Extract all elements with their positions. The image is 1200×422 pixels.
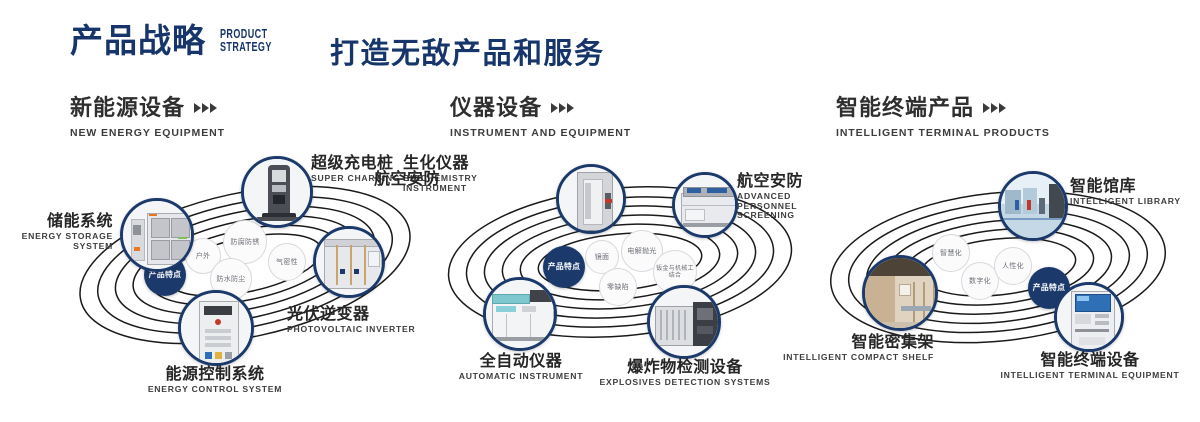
- section-title-cn: 新能源设备: [70, 96, 225, 121]
- node-super-charging-hub[interactable]: [241, 156, 313, 228]
- section-label: 仪器设备: [450, 96, 542, 121]
- product-strategy-infographic: 产品战略 PRODUCT STRATEGY 打造无敌产品和服务 新能源设备 NE…: [0, 0, 1200, 422]
- biochemistry-analyzer-icon: [559, 167, 623, 231]
- page-slogan: 打造无敌产品和服务: [330, 30, 605, 72]
- library-room-icon: [1001, 174, 1065, 238]
- cluster-intelligent-terminal: 智慧化 数字化 人性化 产品特点 智能馆库 INTELLIGENT LIBRAR…: [820, 155, 1190, 385]
- section-title-intelligent-terminal: 智能终端产品 INTELLIGENT TERMINAL PRODUCTS: [836, 96, 1050, 139]
- node-advanced-personnel-screening[interactable]: [672, 172, 738, 238]
- feature-bubble: 智慧化: [932, 234, 970, 272]
- page-title-en-line2: STRATEGY: [220, 41, 306, 54]
- page-title-cn: 产品战略: [70, 24, 206, 57]
- page-title-en: PRODUCT STRATEGY: [220, 28, 306, 58]
- automatic-instrument-icon: [486, 280, 554, 348]
- chevron-right-icon: [194, 103, 217, 115]
- section-label: 新能源设备: [70, 96, 185, 121]
- section-title-en: INTELLIGENT TERMINAL PRODUCTS: [836, 127, 1050, 139]
- feature-bubble: 气密性: [268, 243, 306, 281]
- chevron-right-icon: [551, 103, 574, 115]
- charging-pile-icon: [244, 159, 310, 225]
- section-title-cn: 智能终端产品: [836, 96, 1050, 121]
- section-label: 智能终端产品: [836, 96, 974, 121]
- page-title: 产品战略 PRODUCT STRATEGY: [70, 24, 340, 57]
- section-title-instrument: 仪器设备 INSTRUMENT AND EQUIPMENT: [450, 96, 631, 139]
- self-service-kiosk-icon: [1057, 285, 1121, 349]
- node-label-automatic-instrument: 全自动仪器 AUTOMATIC INSTRUMENT: [423, 352, 619, 382]
- node-intelligent-compact-shelf[interactable]: [862, 255, 938, 331]
- section-title-cn: 仪器设备: [450, 96, 631, 121]
- node-intelligent-terminal-equipment[interactable]: [1054, 282, 1124, 352]
- node-energy-control-system[interactable]: [178, 290, 254, 366]
- node-photovoltaic-inverter[interactable]: [313, 226, 385, 298]
- inverter-cabinet-icon: [316, 229, 382, 295]
- section-title-en: INSTRUMENT AND EQUIPMENT: [450, 127, 631, 139]
- node-label-energy-storage-system: 储能系统 ENERGY STORAGE SYSTEM: [0, 212, 113, 251]
- feature-bubble: 人性化: [994, 247, 1032, 285]
- node-automatic-instrument[interactable]: [483, 277, 557, 351]
- energy-storage-cabinet-icon: [123, 201, 191, 269]
- node-label-intelligent-terminal-equipment: 智能终端设备 INTELLIGENT TERMINAL EQUIPMENT: [985, 351, 1195, 381]
- node-energy-storage-system[interactable]: [120, 198, 194, 272]
- node-label-aviation-security-left: 航空安防: [330, 170, 440, 188]
- node-label-intelligent-library: 智能馆库 INTELLIGENT LIBRARY: [1070, 177, 1200, 207]
- section-title-new-energy: 新能源设备 NEW ENERGY EQUIPMENT: [70, 96, 225, 139]
- node-biochemistry-instrument[interactable]: [556, 164, 626, 234]
- section-title-en: NEW ENERGY EQUIPMENT: [70, 127, 225, 139]
- feature-bubble: 零缺陷: [599, 268, 637, 306]
- screening-machine-icon: [675, 175, 735, 235]
- control-cabinet-icon: [181, 293, 251, 363]
- compact-shelf-icon: [865, 258, 935, 328]
- node-explosives-detection-systems[interactable]: [647, 285, 721, 359]
- page-title-en-line1: PRODUCT: [220, 28, 306, 41]
- node-label-intelligent-compact-shelf: 智能密集架 INTELLIGENT COMPACT SHELF: [762, 333, 934, 363]
- explosive-detector-icon: [650, 288, 718, 356]
- chevron-right-icon: [983, 103, 1006, 115]
- node-label-energy-control-system: 能源控制系统 ENERGY CONTROL SYSTEM: [85, 365, 345, 395]
- cluster-instrument: 镜面 电解抛光 零缺陷 钣金与机械工结合 产品特点 生化仪器 BIOCHEMIS…: [425, 150, 815, 380]
- node-intelligent-library[interactable]: [998, 171, 1068, 241]
